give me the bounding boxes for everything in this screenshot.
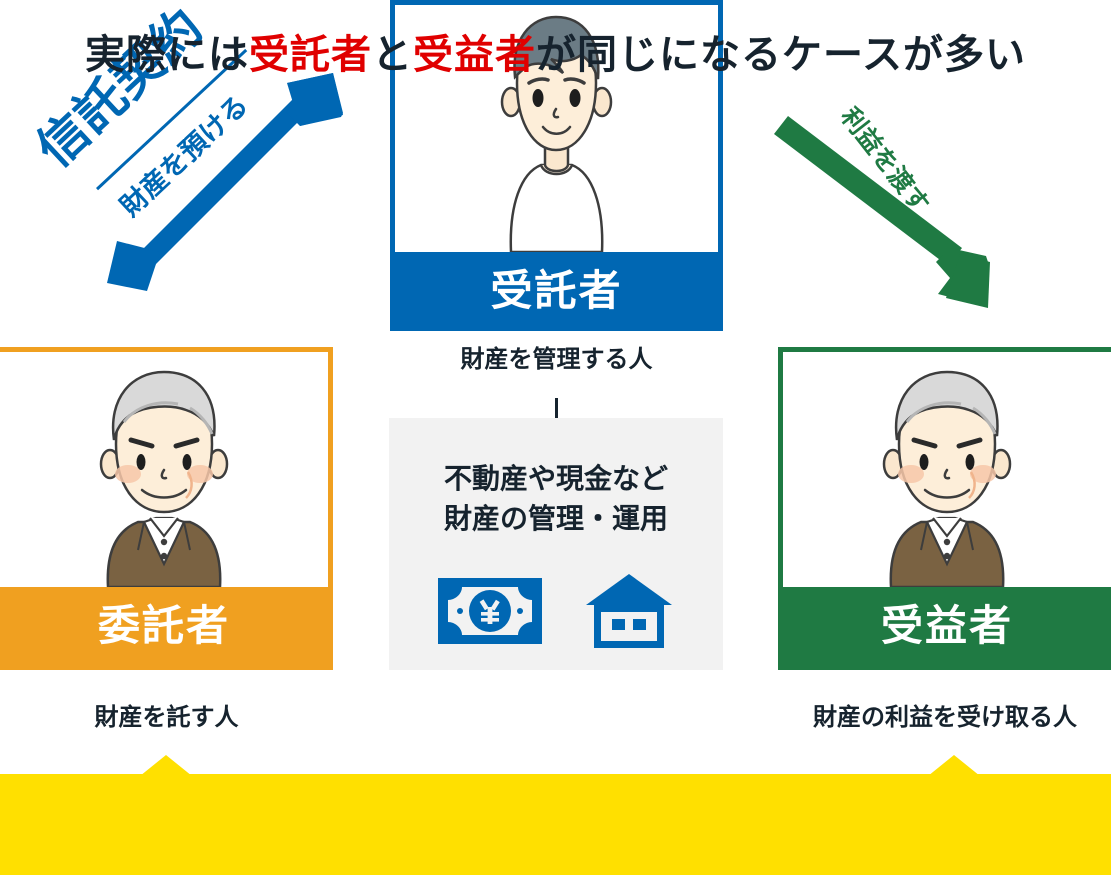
panel-text-line2: 財産の管理・運用 — [389, 499, 723, 539]
banknote-yen-icon — [438, 578, 542, 644]
card-beneficiary-label: 受益者 — [783, 587, 1111, 665]
card-trustee-label: 受託者 — [395, 252, 718, 330]
card-settlor-label: 委託者 — [0, 587, 328, 665]
banner-prefix: 実際には — [85, 22, 249, 80]
card-beneficiary-caption: 財産の利益を受け取る人 — [779, 697, 1111, 732]
panel-text-line1: 不動産や現金など — [389, 459, 723, 499]
banner-highlight-trustee: 受託者 — [249, 22, 372, 80]
asset-management-panel-text: 不動産や現金など 財産の管理・運用 — [389, 459, 723, 539]
card-settlor[interactable]: 委託者 — [0, 347, 333, 670]
banner-notch-right — [928, 755, 980, 776]
banner-notch-left — [140, 755, 192, 776]
settlor-photo — [0, 352, 328, 587]
card-trustee-caption: 財産を管理する人 — [390, 339, 723, 374]
elderly-man-avatar-icon — [783, 352, 1111, 587]
asset-icons-group — [389, 572, 723, 650]
banner-suffix: が同じになるケースが多い — [536, 22, 1026, 80]
beneficiary-photo — [783, 352, 1111, 587]
banner-middle: と — [372, 22, 413, 80]
trust-relationship-diagram: 信託契約 財産を預ける 利益を渡す — [0, 0, 1111, 875]
card-settlor-caption: 財産を託す人 — [0, 697, 333, 732]
summary-banner — [0, 774, 1111, 875]
banner-highlight-beneficiary: 受益者 — [413, 22, 536, 80]
house-icon — [584, 572, 674, 650]
card-beneficiary[interactable]: 受益者 — [778, 347, 1111, 670]
elderly-man-avatar-icon — [0, 352, 328, 587]
summary-banner-text: 実際には受託者と受益者が同じになるケースが多い — [0, 0, 1111, 101]
